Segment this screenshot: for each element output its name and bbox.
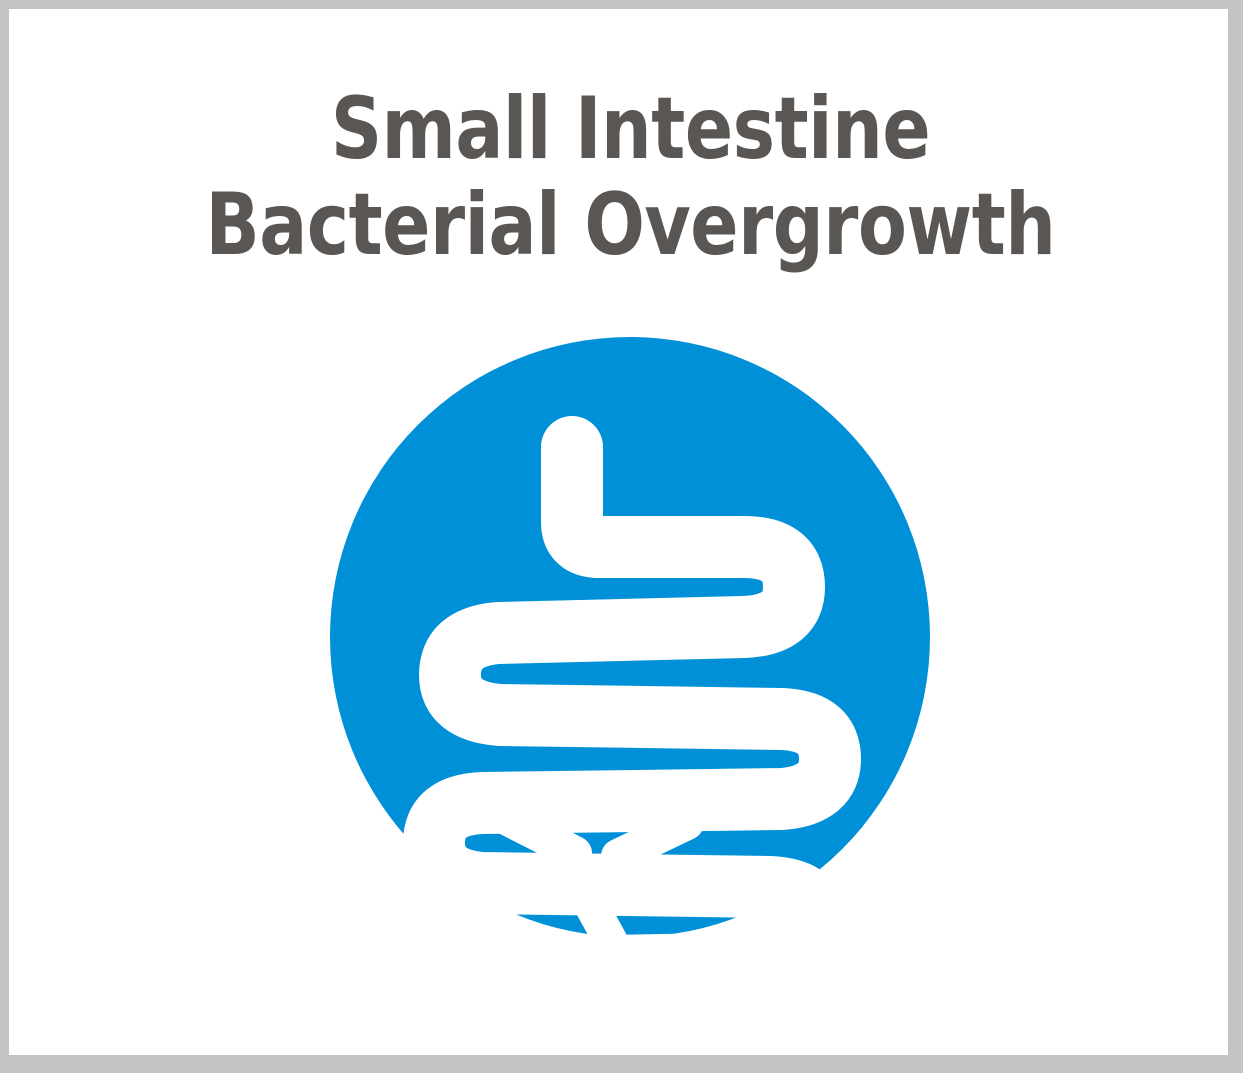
page-title-line-2: Bacterial Overgrowth: [59, 177, 1203, 273]
page-title-line-1: Small Intestine: [59, 81, 1203, 177]
small-intestine-bacteria-illustration: [330, 337, 930, 937]
slide-card: Small Intestine Bacterial Overgrowth: [0, 0, 1243, 1073]
intestine-icon: [330, 337, 930, 937]
page-title: Small Intestine Bacterial Overgrowth: [9, 81, 1243, 273]
